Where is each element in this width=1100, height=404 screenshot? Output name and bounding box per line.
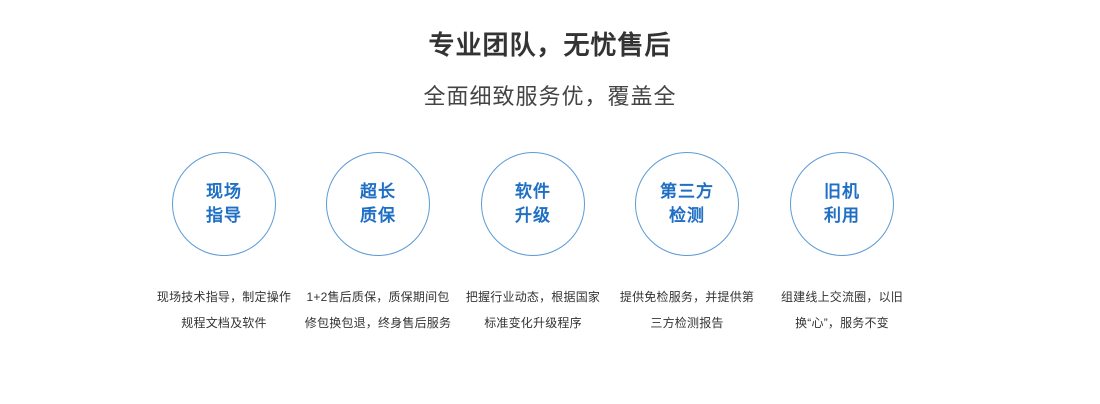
feature-circle-label-line2: 指导	[206, 204, 242, 228]
feature-caption-line2: 三方检测报告	[608, 310, 766, 336]
feature-caption-line1: 1+2售后质保，质保期间包	[299, 284, 457, 310]
feature-caption-line1: 把握行业动态，根据国家	[454, 284, 612, 310]
feature-item-3: 软件 升级	[456, 152, 610, 256]
feature-circles-row: 现场 指导 超长 质保 软件 升级 第三方 检测 旧机	[0, 152, 1100, 256]
feature-item-5: 旧机 利用	[765, 152, 919, 256]
feature-circle-5[interactable]: 旧机 利用	[790, 152, 894, 256]
feature-caption-line2: 规程文档及软件	[145, 310, 303, 336]
feature-circle-2[interactable]: 超长 质保	[326, 152, 430, 256]
feature-circle-label-line2: 利用	[824, 204, 860, 228]
feature-circle-3[interactable]: 软件 升级	[481, 152, 585, 256]
feature-caption-line2: 标准变化升级程序	[454, 310, 612, 336]
feature-item-4: 第三方 检测	[610, 152, 764, 256]
feature-item-1: 现场 指导	[147, 152, 301, 256]
feature-caption-line2: 换“心”，服务不变	[763, 310, 921, 336]
feature-circle-label-line2: 升级	[515, 204, 551, 228]
page-title: 专业团队，无忧售后	[0, 0, 1100, 62]
feature-caption-4: 提供免检服务，并提供第 三方检测报告	[608, 284, 766, 336]
feature-caption-line2: 修包换包退，终身售后服务	[299, 310, 457, 336]
service-feature-banner: 专业团队，无忧售后 全面细致服务优，覆盖全 现场 指导 超长 质保 软件 升级 …	[0, 0, 1100, 404]
feature-circle-label-line2: 质保	[360, 204, 396, 228]
feature-circle-4[interactable]: 第三方 检测	[635, 152, 739, 256]
feature-circle-label-line1: 超长	[360, 180, 396, 204]
feature-caption-line1: 组建线上交流圈，以旧	[763, 284, 921, 310]
feature-circle-label-line1: 旧机	[824, 180, 860, 204]
feature-caption-3: 把握行业动态，根据国家 标准变化升级程序	[454, 284, 612, 336]
page-subtitle: 全面细致服务优，覆盖全	[0, 62, 1100, 112]
feature-caption-1: 现场技术指导，制定操作 规程文档及软件	[145, 284, 303, 336]
feature-circle-label-line2: 检测	[669, 204, 705, 228]
feature-circle-label-line1: 软件	[515, 180, 551, 204]
heading-block: 专业团队，无忧售后 全面细致服务优，覆盖全	[0, 0, 1100, 112]
feature-caption-5: 组建线上交流圈，以旧 换“心”，服务不变	[763, 284, 921, 336]
feature-circle-label-line1: 第三方	[660, 180, 714, 204]
feature-captions-row: 现场技术指导，制定操作 规程文档及软件 1+2售后质保，质保期间包 修包换包退，…	[0, 284, 1100, 344]
feature-caption-line1: 现场技术指导，制定操作	[145, 284, 303, 310]
feature-item-2: 超长 质保	[301, 152, 455, 256]
feature-circle-label-line1: 现场	[206, 180, 242, 204]
feature-caption-line1: 提供免检服务，并提供第	[608, 284, 766, 310]
feature-caption-2: 1+2售后质保，质保期间包 修包换包退，终身售后服务	[299, 284, 457, 336]
feature-circle-1[interactable]: 现场 指导	[172, 152, 276, 256]
